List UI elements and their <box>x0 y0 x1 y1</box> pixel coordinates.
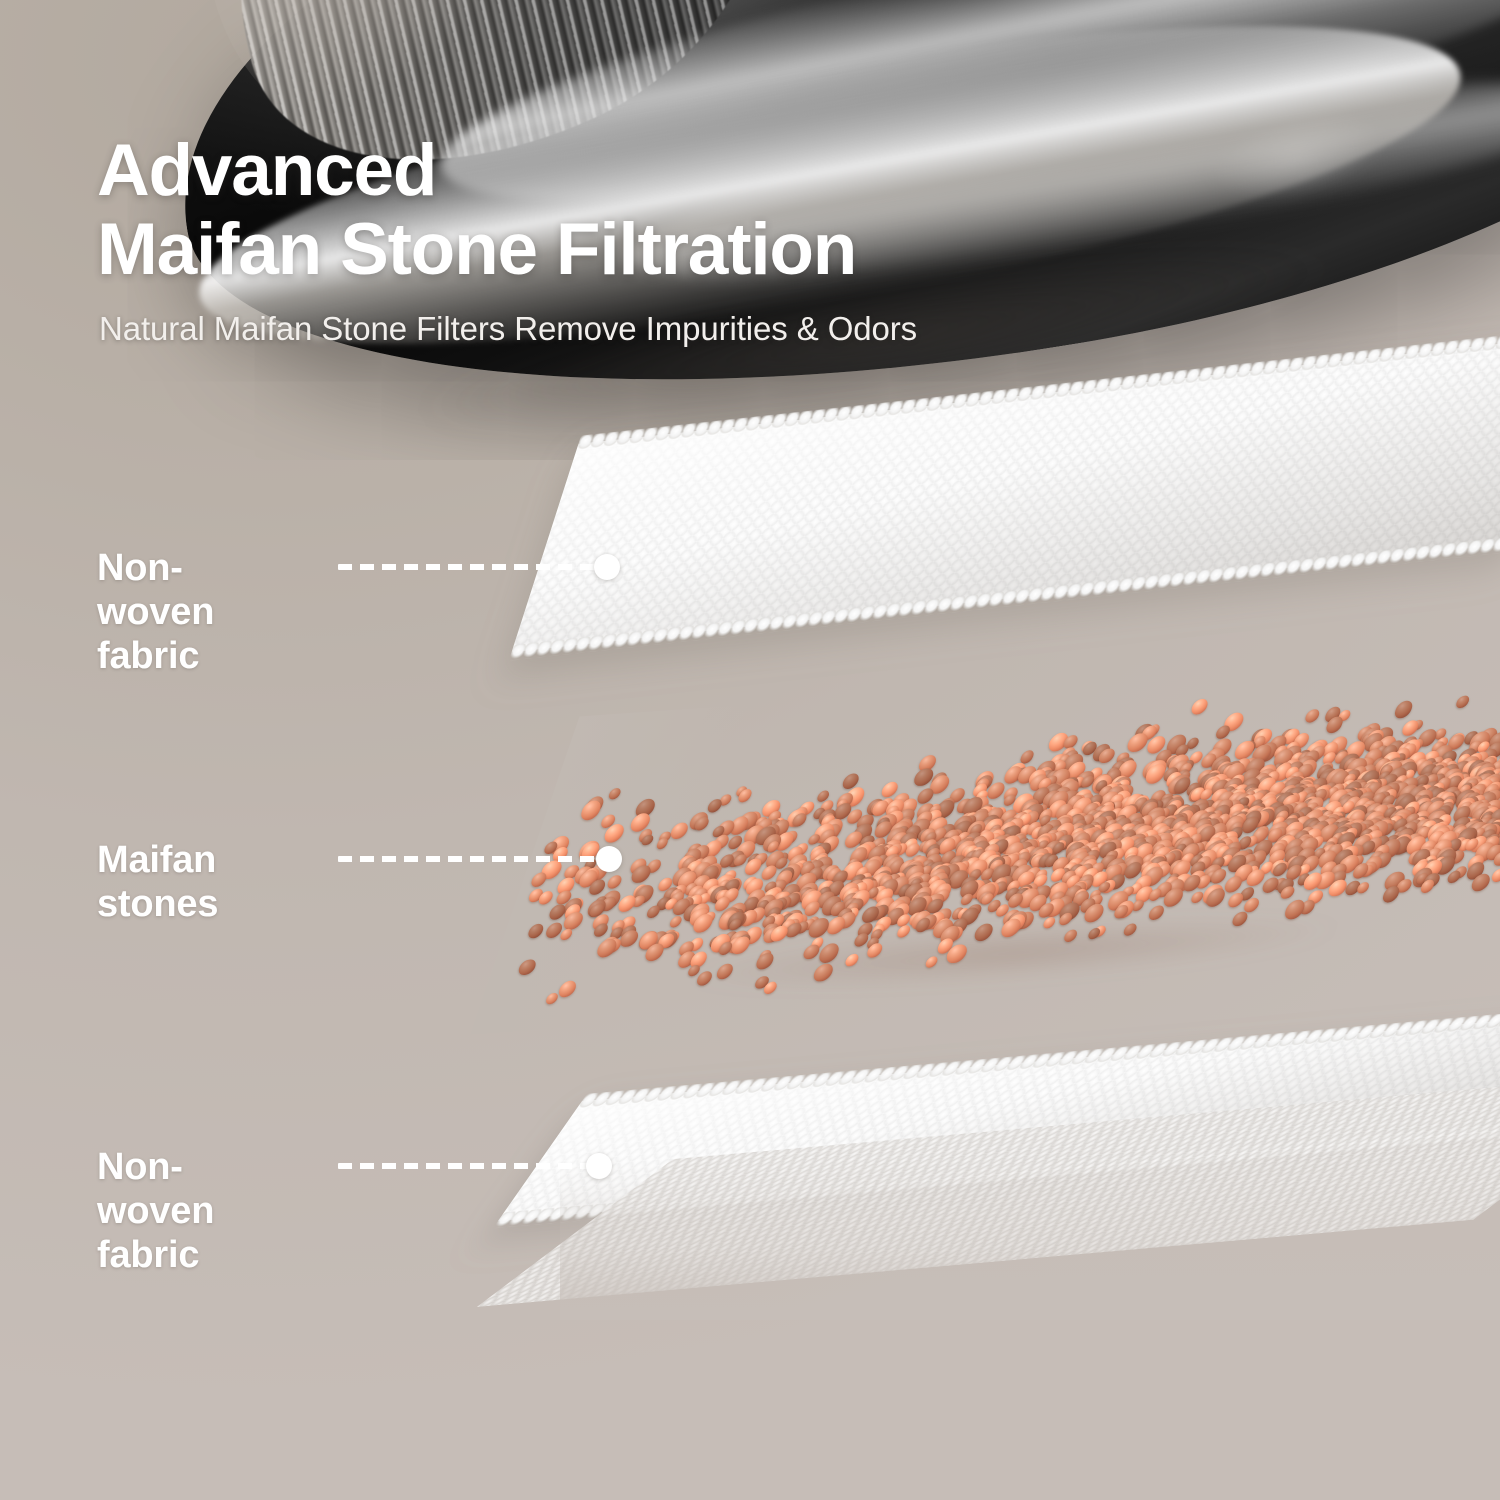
stone-granule <box>1121 793 1146 813</box>
stone-granule <box>1468 741 1484 754</box>
stone-granule <box>714 964 734 980</box>
stone-granule <box>1406 850 1425 866</box>
stone-granule <box>1036 852 1055 868</box>
stone-granule <box>1433 805 1454 822</box>
stone-granule <box>1195 841 1210 853</box>
stone-granule <box>1026 768 1048 786</box>
stone-granule <box>1108 863 1130 881</box>
stone-granule <box>1454 774 1471 788</box>
stone-granule <box>1354 819 1377 838</box>
stone-granule <box>1244 836 1259 848</box>
stone-granule <box>879 839 904 859</box>
stone-granule <box>896 825 910 837</box>
stone-granule <box>1057 902 1082 922</box>
stone-granule <box>1473 763 1498 783</box>
stone-granule <box>1331 806 1346 818</box>
stone-granule <box>737 934 751 946</box>
stone-granule <box>746 854 762 867</box>
stone-granule <box>858 835 876 850</box>
stone-granule <box>1215 814 1232 827</box>
stone-granule <box>998 838 1012 849</box>
stone-granule <box>1225 815 1242 829</box>
stone-granule <box>1272 834 1297 854</box>
stone-granule <box>759 824 782 843</box>
stone-granule <box>690 844 712 862</box>
page-title: Advanced Maifan Stone Filtration <box>97 131 1197 289</box>
stone-granule <box>876 890 891 902</box>
stone-granule <box>809 937 825 950</box>
stone-granule <box>1448 771 1473 791</box>
stone-granule <box>1299 826 1314 838</box>
stone-granule <box>1366 779 1384 794</box>
stone-granule <box>1298 786 1319 803</box>
stone-granule <box>1068 851 1092 871</box>
stone-granule <box>872 896 897 916</box>
stone-granule <box>1492 851 1500 866</box>
stone-granule <box>1482 776 1500 792</box>
stone-granule <box>965 903 983 917</box>
stone-granule <box>857 872 874 886</box>
stone-granule <box>1267 850 1288 867</box>
stone-granule <box>842 897 860 912</box>
stone-granule <box>1156 796 1178 814</box>
stone-granule <box>1086 802 1102 815</box>
stone-granule <box>1065 858 1083 873</box>
stone-granule <box>816 880 836 896</box>
stone-granule <box>785 854 810 874</box>
stone-granule <box>1447 791 1463 804</box>
stone-granule <box>1185 782 1203 797</box>
stone-granule <box>1103 865 1119 878</box>
stone-granule <box>1170 873 1194 893</box>
stone-granule <box>1455 827 1480 847</box>
stone-granule <box>1422 872 1441 888</box>
stone-granule <box>1324 837 1340 850</box>
stone-granule <box>1410 861 1431 878</box>
stone-granule <box>951 908 966 920</box>
stone-granule <box>1002 853 1021 869</box>
stone-granule <box>1332 811 1347 824</box>
stone-granule <box>938 851 957 866</box>
stone-granule <box>1434 777 1452 792</box>
stone-granule <box>1344 881 1363 896</box>
stone-granule <box>1273 835 1298 855</box>
stone-granule <box>988 824 1003 836</box>
stone-granule <box>1002 787 1020 801</box>
stone-granule <box>1410 738 1425 750</box>
stone-granule <box>1064 849 1083 865</box>
stone-granule <box>1384 740 1407 759</box>
stone-granule <box>1260 876 1281 893</box>
stone-granule <box>1281 776 1306 797</box>
stone-granule <box>1451 806 1473 824</box>
stone-granule <box>821 818 846 838</box>
stone-granule <box>1094 810 1119 830</box>
stone-granule <box>1252 827 1270 842</box>
stone-granule <box>1000 817 1021 834</box>
stone-granule <box>960 837 975 849</box>
stone-granule <box>1107 808 1125 822</box>
stone-granule <box>742 876 760 890</box>
stone-granule <box>1434 814 1453 829</box>
stone-granule <box>896 914 912 927</box>
stone-granule <box>1405 752 1428 770</box>
stone-granule <box>1378 782 1400 800</box>
stone-granule <box>1290 785 1312 803</box>
stone-granule <box>1226 855 1248 873</box>
stone-granule <box>1463 731 1480 744</box>
stone-granule <box>1481 773 1500 791</box>
stone-granule <box>1011 833 1029 847</box>
stone-granule <box>1115 829 1138 848</box>
stone-granule <box>1002 795 1017 807</box>
stone-granule <box>1227 811 1246 826</box>
stone-granule <box>1185 738 1200 750</box>
stone-granule <box>1424 810 1445 827</box>
stone-granule <box>796 882 821 902</box>
stone-granule <box>1286 783 1308 801</box>
stone-granule <box>1481 823 1500 841</box>
stone-granule <box>1119 796 1136 810</box>
stone-granule <box>1038 815 1052 827</box>
stone-granule <box>1459 820 1484 840</box>
stone-granule <box>968 848 987 864</box>
stone-granule <box>1382 807 1398 820</box>
stone-granule <box>1282 793 1302 809</box>
stone-granule <box>909 910 933 929</box>
stone-granule <box>1291 780 1315 800</box>
stone-granule <box>1080 740 1096 753</box>
stone-granule <box>1303 741 1326 760</box>
stone-granule <box>1260 791 1280 807</box>
stone-granule <box>1219 762 1240 779</box>
stone-granule <box>926 898 946 914</box>
stone-granule <box>1097 841 1119 859</box>
stone-granule <box>1061 750 1080 765</box>
stone-granule <box>1238 854 1258 870</box>
stone-granule <box>668 916 683 928</box>
stone-granule <box>1321 751 1337 764</box>
stone-granule <box>1199 818 1221 836</box>
stone-granule <box>1203 748 1227 768</box>
stone-granule <box>1216 763 1236 779</box>
stone-granule <box>1255 777 1278 795</box>
leader-line-bottom-nonwoven <box>338 1163 594 1169</box>
stone-granule <box>773 870 795 888</box>
stone-granule <box>1480 791 1495 803</box>
stone-granule <box>1317 767 1339 785</box>
stone-granule <box>1010 859 1029 875</box>
stone-granule <box>971 783 989 797</box>
stone-granule <box>1133 886 1155 904</box>
stone-granule <box>785 809 808 828</box>
stone-granule <box>960 812 980 829</box>
stone-granule <box>712 897 731 912</box>
stone-granule <box>1444 832 1462 847</box>
stone-granule <box>1042 784 1065 802</box>
stone-granule <box>718 907 742 927</box>
stone-granule <box>1330 816 1345 828</box>
stone-granule <box>1270 826 1289 842</box>
stone-granule <box>1109 760 1129 776</box>
stone-granule <box>1344 844 1367 862</box>
stone-granule <box>1359 861 1378 877</box>
stone-granule <box>767 914 786 930</box>
stone-granule <box>1298 789 1315 803</box>
stone-granule <box>1435 825 1452 839</box>
stone-granule <box>686 843 703 857</box>
stone-granule <box>874 887 895 904</box>
stone-granule <box>1482 799 1500 817</box>
stone-granule <box>741 896 761 913</box>
stone-granule <box>691 862 714 881</box>
stone-granule <box>1110 776 1133 795</box>
stone-granule <box>655 896 673 911</box>
stone-granule <box>1276 784 1299 803</box>
stone-granule <box>1479 808 1494 821</box>
stone-granule <box>587 879 608 896</box>
stone-granule <box>811 823 836 844</box>
stone-granule <box>1426 762 1441 774</box>
stone-granule <box>985 782 1006 799</box>
stone-granule <box>572 866 594 884</box>
stone-granule <box>554 890 572 905</box>
stone-granule <box>869 866 894 886</box>
stone-granule <box>774 891 792 906</box>
stone-granule <box>868 872 892 892</box>
stone-granule <box>1166 754 1191 774</box>
stone-granule <box>976 803 995 818</box>
stone-granule <box>812 963 835 982</box>
stone-granule <box>1438 802 1456 817</box>
stone-granule <box>1025 822 1042 836</box>
stone-granule <box>680 904 703 923</box>
stone-granule <box>1149 790 1168 805</box>
stone-granule <box>1412 818 1433 835</box>
stone-granule <box>1478 824 1500 841</box>
stone-granule <box>1056 755 1072 768</box>
stone-granule <box>1042 897 1067 917</box>
stone-granule <box>1235 797 1250 809</box>
stone-granule <box>996 854 1015 869</box>
stone-granule <box>1285 856 1303 871</box>
stone-granule <box>1017 813 1033 826</box>
stone-granule <box>1162 850 1183 867</box>
stone-granule <box>868 846 886 861</box>
stone-granule <box>1307 890 1325 904</box>
stone-granule <box>1087 824 1104 838</box>
stone-granule <box>1423 774 1441 788</box>
stone-granule <box>800 888 820 904</box>
stone-granule <box>1200 772 1223 791</box>
stone-granule <box>1429 765 1446 779</box>
stone-granule <box>1473 767 1496 786</box>
stone-granule <box>703 863 723 880</box>
stone-granule <box>1405 819 1423 833</box>
stone-granule <box>1068 839 1093 859</box>
stone-granule <box>904 832 918 844</box>
stone-granule <box>1480 806 1500 824</box>
stone-granule <box>1005 914 1027 932</box>
stone-granule <box>1016 837 1031 849</box>
stone-granule <box>725 911 748 929</box>
stone-granule <box>669 889 684 901</box>
stone-granule <box>1276 861 1290 873</box>
stone-granule <box>1355 833 1375 849</box>
stone-granule <box>1292 808 1312 824</box>
stone-granule <box>1463 818 1480 832</box>
stone-granule <box>1478 757 1498 774</box>
stone-granule <box>977 819 998 836</box>
stone-granule <box>1122 862 1144 880</box>
stone-granule <box>1110 775 1130 791</box>
stone-granule <box>1324 843 1344 859</box>
stone-granule <box>1356 791 1377 808</box>
stone-granule <box>1221 777 1246 797</box>
stone-granule <box>1339 780 1357 795</box>
stone-granule <box>1453 789 1478 809</box>
stone-granule <box>681 848 704 866</box>
stone-granule <box>761 898 785 918</box>
stone-granule <box>1109 790 1134 810</box>
stone-granule <box>846 858 860 869</box>
stone-granule <box>1190 842 1206 855</box>
stone-granule <box>990 839 1004 851</box>
stone-granule <box>849 882 867 896</box>
stone-granule <box>1227 793 1245 808</box>
stone-granule <box>984 827 1004 843</box>
stone-granule <box>956 799 974 813</box>
stone-granule <box>1294 776 1319 796</box>
stone-granule <box>1385 767 1409 787</box>
stone-granule <box>1097 786 1115 800</box>
stone-granule <box>1149 840 1170 857</box>
stone-granule <box>824 880 846 898</box>
stone-granule <box>1254 768 1277 787</box>
stone-granule <box>1076 874 1097 891</box>
stone-granule <box>1329 826 1353 845</box>
stone-granule <box>1472 779 1496 798</box>
stone-granule <box>637 829 654 843</box>
stone-granule <box>1329 817 1353 837</box>
stone-granule <box>1106 891 1131 911</box>
stone-granule <box>954 832 971 846</box>
stone-granule <box>1389 836 1413 855</box>
stone-granule <box>584 796 606 814</box>
stone-granule <box>1343 741 1368 761</box>
stone-granule <box>876 875 891 887</box>
stone-granule <box>846 899 863 913</box>
stone-granule <box>1439 802 1454 814</box>
stone-granule <box>1450 823 1469 838</box>
stone-granule <box>774 857 789 869</box>
stone-granule <box>778 913 797 928</box>
stone-granule <box>691 887 710 902</box>
stone-granule <box>1446 734 1466 750</box>
stone-granule <box>806 917 831 937</box>
stone-granule <box>1067 863 1085 878</box>
stone-granule <box>914 895 934 912</box>
stone-granule <box>1484 845 1500 861</box>
stone-granule <box>878 876 894 889</box>
stone-granule <box>1356 882 1371 894</box>
stone-granule <box>764 887 783 902</box>
stone-granule <box>921 853 944 872</box>
stone-granule <box>1326 879 1348 897</box>
stone-granule <box>732 854 748 867</box>
leader-line-maifan-stones <box>338 856 608 862</box>
stone-granule <box>938 798 957 813</box>
stone-granule <box>563 864 581 879</box>
stone-granule <box>1430 773 1447 787</box>
stone-granule <box>1482 817 1500 833</box>
stone-granule <box>1161 888 1185 908</box>
stone-granule <box>974 806 995 823</box>
stone-granule <box>1040 825 1055 837</box>
stone-granule <box>1071 789 1093 807</box>
stone-granule <box>1167 817 1190 835</box>
stone-granule <box>1205 843 1230 863</box>
stone-granule <box>708 936 722 948</box>
stone-granule <box>1260 806 1280 822</box>
stone-granule <box>854 867 870 880</box>
stone-granule <box>526 923 545 939</box>
stone-granule <box>902 883 926 902</box>
stone-granule <box>753 976 770 990</box>
stone-granule <box>1009 864 1034 885</box>
stone-granule <box>707 885 730 904</box>
stone-granule <box>1351 835 1373 853</box>
stone-granule <box>633 885 650 899</box>
stone-granule <box>722 888 741 904</box>
infographic-canvas: Advanced Maifan Stone Filtration Natural… <box>0 0 1500 1500</box>
stone-granule <box>1250 728 1270 744</box>
stone-granule <box>854 841 878 860</box>
stone-granule <box>978 814 1002 834</box>
stone-granule <box>1337 855 1361 875</box>
stone-granule <box>1439 786 1462 805</box>
stone-granule <box>1275 762 1294 778</box>
stone-granule <box>1052 814 1075 833</box>
stone-granule <box>1471 828 1486 840</box>
stone-granule <box>1345 779 1369 799</box>
stone-granule <box>1208 810 1224 823</box>
stone-granule <box>1381 782 1402 799</box>
stone-granule <box>958 880 981 898</box>
stone-granule <box>1303 709 1321 723</box>
stone-granule <box>1196 825 1218 843</box>
stone-granule <box>975 850 998 869</box>
stone-granule <box>969 847 985 860</box>
stone-granule <box>886 899 908 917</box>
stone-granule <box>1077 813 1096 829</box>
stone-granule <box>1183 827 1198 839</box>
stone-granule <box>980 893 995 905</box>
stone-granule <box>1287 771 1306 786</box>
stone-granule <box>1361 819 1381 835</box>
stone-granule <box>1309 815 1334 835</box>
stone-granule <box>1342 822 1365 840</box>
stone-granule <box>1231 758 1253 776</box>
stone-granule <box>792 807 809 821</box>
stone-granule <box>1194 855 1214 871</box>
stone-granule <box>1373 802 1394 819</box>
stone-granule <box>1062 735 1080 750</box>
stone-granule <box>863 878 878 890</box>
stone-granule <box>1223 837 1241 851</box>
stone-granule <box>1015 839 1040 860</box>
stone-granule <box>923 861 939 874</box>
